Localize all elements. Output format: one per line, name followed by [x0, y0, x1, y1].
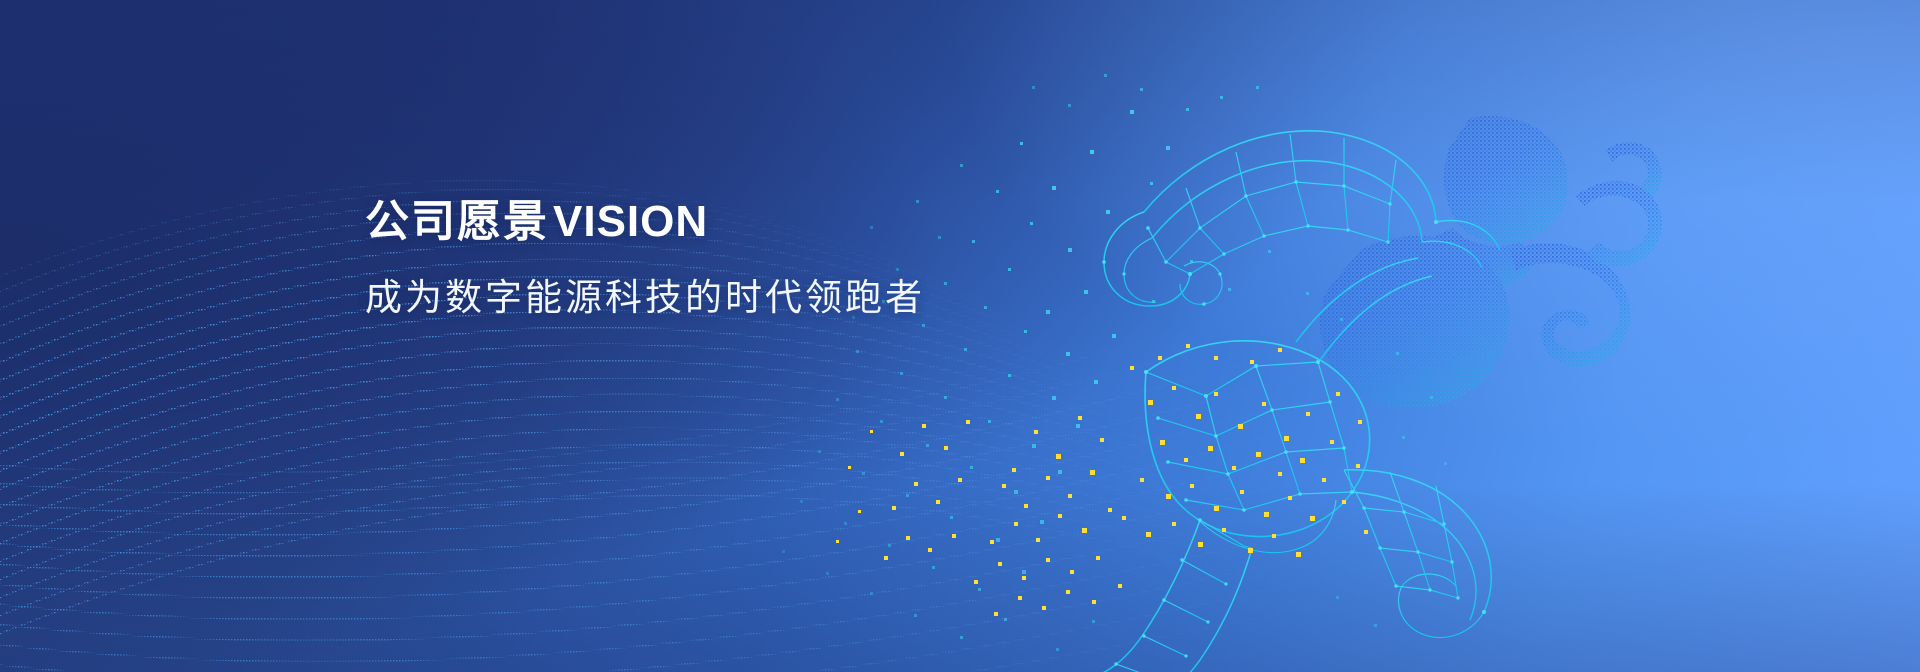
page-title-cn: 公司愿景 [365, 197, 549, 246]
hero-text-block: 公司愿景VISION 成为数字能源科技的时代领跑者 [365, 196, 925, 322]
runner-figure-graphic [0, 0, 1920, 672]
yellow-particles [836, 344, 1368, 616]
page-subtitle: 成为数字能源科技的时代领跑者 [365, 274, 925, 322]
page-title-en: VISION [553, 197, 708, 246]
vision-hero-banner: 公司愿景VISION 成为数字能源科技的时代领跑者 [0, 0, 1920, 672]
page-title: 公司愿景VISION [365, 196, 925, 248]
